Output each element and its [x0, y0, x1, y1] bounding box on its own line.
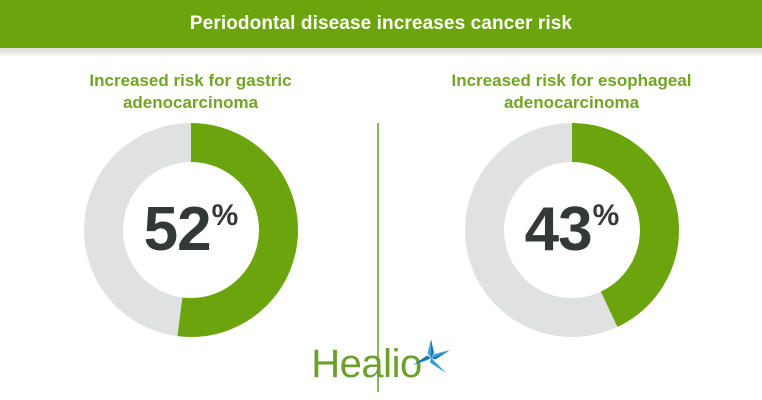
panels-container: Increased risk for gastric adenocarcinom… [0, 57, 762, 342]
donut-chart-gastric: 52 % [84, 123, 298, 337]
healio-star-icon [411, 338, 451, 378]
infographic-root: Periodontal disease increases cancer ris… [0, 0, 762, 400]
panel-esophageal: Increased risk for esophageal adenocarci… [381, 57, 762, 342]
header-banner: Periodontal disease increases cancer ris… [0, 0, 762, 48]
page-title: Periodontal disease increases cancer ris… [190, 13, 572, 35]
healio-wordmark: Healio [311, 344, 421, 384]
healio-logo: Healio [0, 338, 762, 390]
panel-title-gastric: Increased risk for gastric adenocarcinom… [0, 70, 381, 114]
donut-chart-esophageal: 43 % [465, 123, 679, 337]
healio-logo-inner: Healio [311, 344, 450, 384]
star-icon-svg [411, 338, 451, 378]
donut-svg-gastric [84, 123, 298, 337]
panel-gastric: Increased risk for gastric adenocarcinom… [0, 57, 381, 342]
header-underbar [0, 48, 762, 57]
donut-svg-esophageal [465, 123, 679, 337]
panel-title-esophageal: Increased risk for esophageal adenocarci… [381, 70, 762, 114]
